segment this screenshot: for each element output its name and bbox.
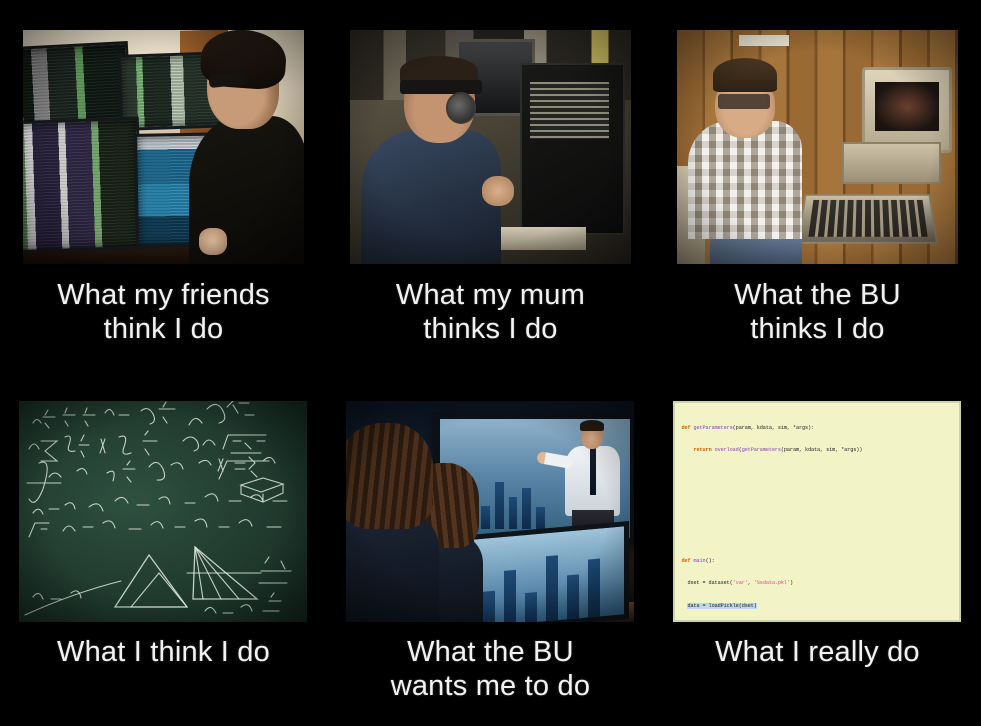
technician-sweater [361, 130, 501, 264]
chart-bar [481, 506, 490, 529]
meme-panel-bu-wants: What the BU wants me to do [327, 363, 654, 726]
panel-caption: What I really do [715, 635, 920, 669]
person-hand [199, 228, 227, 255]
chart-bar [567, 575, 579, 620]
magnifier-loupe-icon [446, 92, 476, 123]
monitor-bottom-left [23, 117, 144, 254]
attendee-body [346, 513, 438, 622]
chart-bar [509, 497, 518, 528]
photo-business-presentation [346, 401, 634, 622]
code-line: def main(): [681, 558, 953, 565]
photo-code-editor: def getParameters(param, kdata, sim, *ar… [673, 401, 961, 622]
technician-hand [482, 176, 515, 205]
meme-panel-friends: What my friends think I do [0, 0, 327, 363]
presenter-tie [590, 448, 596, 495]
photo-vintage-computer [677, 30, 958, 264]
meme-panel-really-do: def getParameters(param, kdata, sim, *ar… [654, 363, 981, 726]
panel-caption: What my friends think I do [57, 278, 270, 346]
panel-caption: What my mum thinks I do [396, 278, 585, 346]
crt-monitor [862, 67, 952, 153]
person-hacker [186, 39, 304, 264]
chart-bar [546, 555, 558, 621]
panel-caption: What the BU thinks I do [734, 278, 901, 346]
code-line: return overload(getParameters(param, kda… [681, 447, 953, 454]
code-line [681, 469, 953, 476]
person-hair [713, 58, 777, 92]
meme-panel-mum: What my mum thinks I do [327, 0, 654, 363]
code-line: data = loadPickle(dset) [681, 603, 953, 610]
meme-panel-i-think: What I think I do [0, 363, 327, 726]
meme-grid: What my friends think I do What my mum t… [0, 0, 981, 726]
meme-panel-bu-thinks: What the BU thinks I do [654, 0, 981, 363]
chart-bar [525, 592, 537, 622]
code-block: def getParameters(param, kdata, sim, *ar… [681, 410, 953, 622]
computer-case [842, 142, 942, 183]
chart-bar [588, 559, 600, 618]
person-technician [361, 63, 524, 264]
photo-repair-technician [350, 30, 631, 264]
chart-bar [483, 591, 495, 622]
person-attendee-front [346, 423, 432, 622]
photo-chalkboard [19, 401, 307, 622]
presenter-hair [580, 420, 605, 431]
code-line: def getParameters(param, kdata, sim, *ar… [681, 425, 953, 432]
vintage-keyboard [796, 194, 938, 244]
chart-bar [522, 488, 531, 529]
chalk-equations [19, 401, 307, 622]
plaid-shirt [688, 121, 802, 239]
code-line [681, 491, 953, 498]
photo-multi-monitor-hacker [23, 30, 304, 264]
person-vintage-user [688, 58, 812, 264]
person-presenter [561, 421, 626, 538]
code-line [681, 536, 953, 543]
attendee-hair [346, 423, 432, 529]
wall-note [739, 35, 790, 47]
chart-bar [504, 569, 516, 622]
laptop-screen [469, 521, 629, 622]
open-equipment-rack [520, 63, 625, 235]
chart-bar [495, 482, 504, 529]
code-line [681, 514, 953, 521]
chart-bar [536, 507, 545, 529]
eyeglasses-icon [718, 94, 770, 109]
code-line: dset = dataset('var', '%sdata.pkl') [681, 580, 953, 587]
headband [400, 80, 481, 95]
panel-caption: What the BU wants me to do [391, 635, 590, 703]
panel-caption: What I think I do [57, 635, 270, 669]
